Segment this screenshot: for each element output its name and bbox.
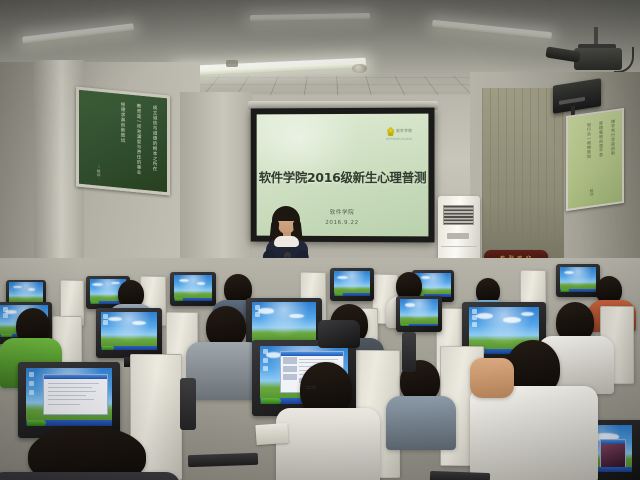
desktop-icon[interactable] xyxy=(29,390,34,395)
window-text-line xyxy=(48,391,96,392)
slide-logo-text: 软件学院 xyxy=(396,129,412,134)
monitor-screen xyxy=(400,299,439,326)
window-text-line xyxy=(48,399,93,400)
window-text-line xyxy=(48,383,98,384)
desktop-icon[interactable] xyxy=(3,307,8,312)
desktop-icon[interactable] xyxy=(472,315,477,320)
poster-text-column: 教育是一项充满爱与责任的事业 xyxy=(136,103,141,175)
desktop-icon[interactable] xyxy=(472,322,477,327)
student-torso xyxy=(0,472,180,480)
wallpaper-cloud xyxy=(503,317,521,323)
window-text-line xyxy=(48,404,80,405)
window-thumbnail xyxy=(283,374,297,381)
presenter-fringe xyxy=(276,211,297,221)
wallpaper-cloud xyxy=(405,303,415,306)
poster-seal: — 院训 · xyxy=(97,164,102,179)
wall-poster-right: 博学笃行求是创新 厚德载物自强不息 知行合一格物致知 · 校训 · xyxy=(566,108,624,211)
wallpaper-cloud xyxy=(258,308,273,313)
monitor xyxy=(396,296,442,332)
desktop-icon[interactable] xyxy=(3,313,8,318)
desktop-icon[interactable] xyxy=(263,358,268,363)
taskbar[interactable] xyxy=(101,346,156,350)
slide-title: 软件学院2016级新生心理普测 xyxy=(257,167,429,186)
desktop-icon[interactable] xyxy=(263,366,268,371)
poster-text-column: 成立诚信与道德的根本之所在 xyxy=(152,105,157,172)
air-conditioner-seam xyxy=(441,246,477,247)
poster-text-column: 厚德载物自强不息 xyxy=(598,121,603,158)
wallpaper-cloud xyxy=(476,313,493,319)
chair xyxy=(402,332,416,372)
desktop-icon[interactable] xyxy=(103,320,108,325)
wall-poster-left: 成立诚信与道德的根本之所在 教育是一项充满爱与责任的事业 修德求真创新致远 — … xyxy=(76,86,170,195)
poster-text-column: 修德求真创新致远 xyxy=(120,102,125,143)
wallpaper-cloud xyxy=(13,286,22,289)
student-arm xyxy=(470,358,514,398)
monitor xyxy=(330,268,374,301)
student-torso xyxy=(470,386,598,480)
poster-text-column: 博学笃行求是创新 xyxy=(610,119,615,156)
window-titlebar[interactable] xyxy=(601,440,624,444)
start-button[interactable] xyxy=(175,298,184,301)
wallpaper-cloud xyxy=(564,271,574,274)
wallpaper-cloud xyxy=(28,288,35,290)
poster-seal: · 校训 · xyxy=(590,186,595,198)
wallpaper-cloud xyxy=(197,282,205,285)
window-thumbnail xyxy=(283,357,297,364)
start-button[interactable] xyxy=(27,420,46,426)
projector-cable xyxy=(614,47,634,73)
start-button[interactable] xyxy=(401,324,410,327)
wallpaper-cloud xyxy=(289,314,304,319)
monitor-screen xyxy=(560,267,597,292)
monitor-screen xyxy=(26,368,112,426)
chair xyxy=(180,378,196,430)
keyboard[interactable] xyxy=(430,471,490,480)
taskbar[interactable] xyxy=(334,293,371,296)
lab-scene: 成立诚信与道德的根本之所在 教育是一项充满爱与责任的事业 修德求真创新致远 — … xyxy=(0,0,640,480)
taskbar[interactable] xyxy=(400,324,439,327)
glasses-icon xyxy=(306,386,316,389)
university-crest-icon xyxy=(387,127,394,136)
monitor-screen xyxy=(334,271,371,296)
window-titlebar[interactable] xyxy=(44,375,107,379)
desktop-icon[interactable] xyxy=(263,349,268,354)
window-titlebar[interactable] xyxy=(281,352,344,356)
start-button[interactable] xyxy=(561,289,569,292)
wallpaper-cloud xyxy=(179,279,189,282)
window-text-line xyxy=(48,387,92,388)
computer-lab-area xyxy=(0,258,640,480)
slide-logo: 软件学院 xyxy=(387,127,412,136)
wallpaper-cloud xyxy=(108,317,122,322)
window-text-line xyxy=(48,395,86,396)
presenter-collar xyxy=(274,236,299,247)
backpack xyxy=(318,320,360,348)
keyboard[interactable] xyxy=(188,453,258,467)
application-window[interactable] xyxy=(43,374,108,416)
start-button[interactable] xyxy=(102,346,114,350)
student-torso xyxy=(276,408,380,480)
window-text-line xyxy=(299,359,338,360)
taskbar[interactable] xyxy=(26,420,112,426)
slide-logo-subtext: SOFTWARE COLLEGE xyxy=(386,138,412,141)
start-button[interactable] xyxy=(335,293,343,296)
image-viewer-window[interactable] xyxy=(600,439,625,468)
monitor-screen xyxy=(101,312,156,350)
desktop-icon[interactable] xyxy=(472,309,477,314)
start-button[interactable] xyxy=(261,398,280,404)
wallpaper-cloud xyxy=(521,312,534,316)
desktop-icon[interactable] xyxy=(29,381,34,386)
wallpaper-cloud xyxy=(92,283,102,286)
wallpaper-cloud xyxy=(421,276,430,279)
window-thumbnail xyxy=(283,366,297,373)
monitor xyxy=(96,308,162,358)
taskbar[interactable] xyxy=(560,289,597,292)
student-torso xyxy=(186,342,262,400)
wallpaper-cloud xyxy=(132,321,145,325)
air-conditioner-grill xyxy=(443,205,474,225)
air-conditioner-panel xyxy=(447,233,469,239)
desktop-icon[interactable] xyxy=(255,305,260,310)
start-button[interactable] xyxy=(91,301,99,304)
wallpaper-cloud xyxy=(337,276,347,279)
monitor-screen xyxy=(174,275,213,301)
desktop-icon[interactable] xyxy=(29,372,34,377)
start-button[interactable] xyxy=(1,334,11,337)
student-torso xyxy=(386,396,456,450)
monitor xyxy=(556,264,600,297)
wallpaper-cloud xyxy=(111,282,120,285)
monitor xyxy=(170,272,216,306)
poster-text-column: 知行合一格物致知 xyxy=(586,123,591,160)
desktop-icon[interactable] xyxy=(103,314,108,319)
taskbar[interactable] xyxy=(174,298,213,301)
desktop-icon[interactable] xyxy=(255,312,260,317)
monitor-screen xyxy=(252,302,316,345)
notebook xyxy=(255,423,288,445)
